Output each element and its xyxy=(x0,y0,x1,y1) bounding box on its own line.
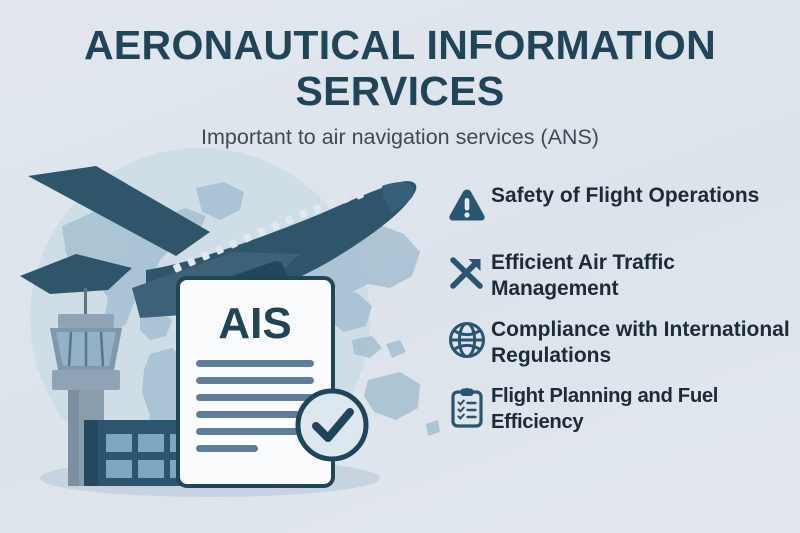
list-item: Flight Planning and Fuel Efficiency xyxy=(443,383,800,435)
list-item: Efficient Air Traffic Management xyxy=(443,249,800,301)
document-title: AIS xyxy=(218,299,291,348)
benefits-list: Safety of Flight Operations Efficient Ai… xyxy=(443,182,800,435)
list-item: Safety of Flight Operations xyxy=(443,182,800,234)
list-item-label: Efficient Air Traffic Management xyxy=(491,249,791,301)
list-item-label: Compliance with International Regulation… xyxy=(491,316,791,368)
page-title: Aeronautical Information Services xyxy=(50,22,750,114)
tower-collar xyxy=(52,370,120,390)
warning-triangle-icon xyxy=(443,182,491,234)
header: Aeronautical Information Services Import… xyxy=(0,22,800,150)
crossing-arrows-icon xyxy=(443,249,491,301)
document: AIS xyxy=(178,278,333,486)
tower-roof xyxy=(58,314,114,328)
illustration: AIS xyxy=(0,148,448,533)
tower-antenna xyxy=(84,288,87,316)
list-item-label: Flight Planning and Fuel Efficiency xyxy=(491,383,791,435)
terminal-shade xyxy=(84,420,98,486)
check-badge-circle xyxy=(298,391,366,459)
globe-icon xyxy=(443,316,491,368)
check-badge xyxy=(298,391,366,459)
infographic-canvas: Aeronautical Information Services Import… xyxy=(0,0,800,533)
clipboard-checklist-icon xyxy=(443,383,491,435)
list-item-label: Safety of Flight Operations xyxy=(491,182,791,209)
page-subtitle: Important to air navigation services (AN… xyxy=(50,124,750,150)
list-item: Compliance with International Regulation… xyxy=(443,316,800,368)
tower-shaft-shade xyxy=(68,390,79,486)
